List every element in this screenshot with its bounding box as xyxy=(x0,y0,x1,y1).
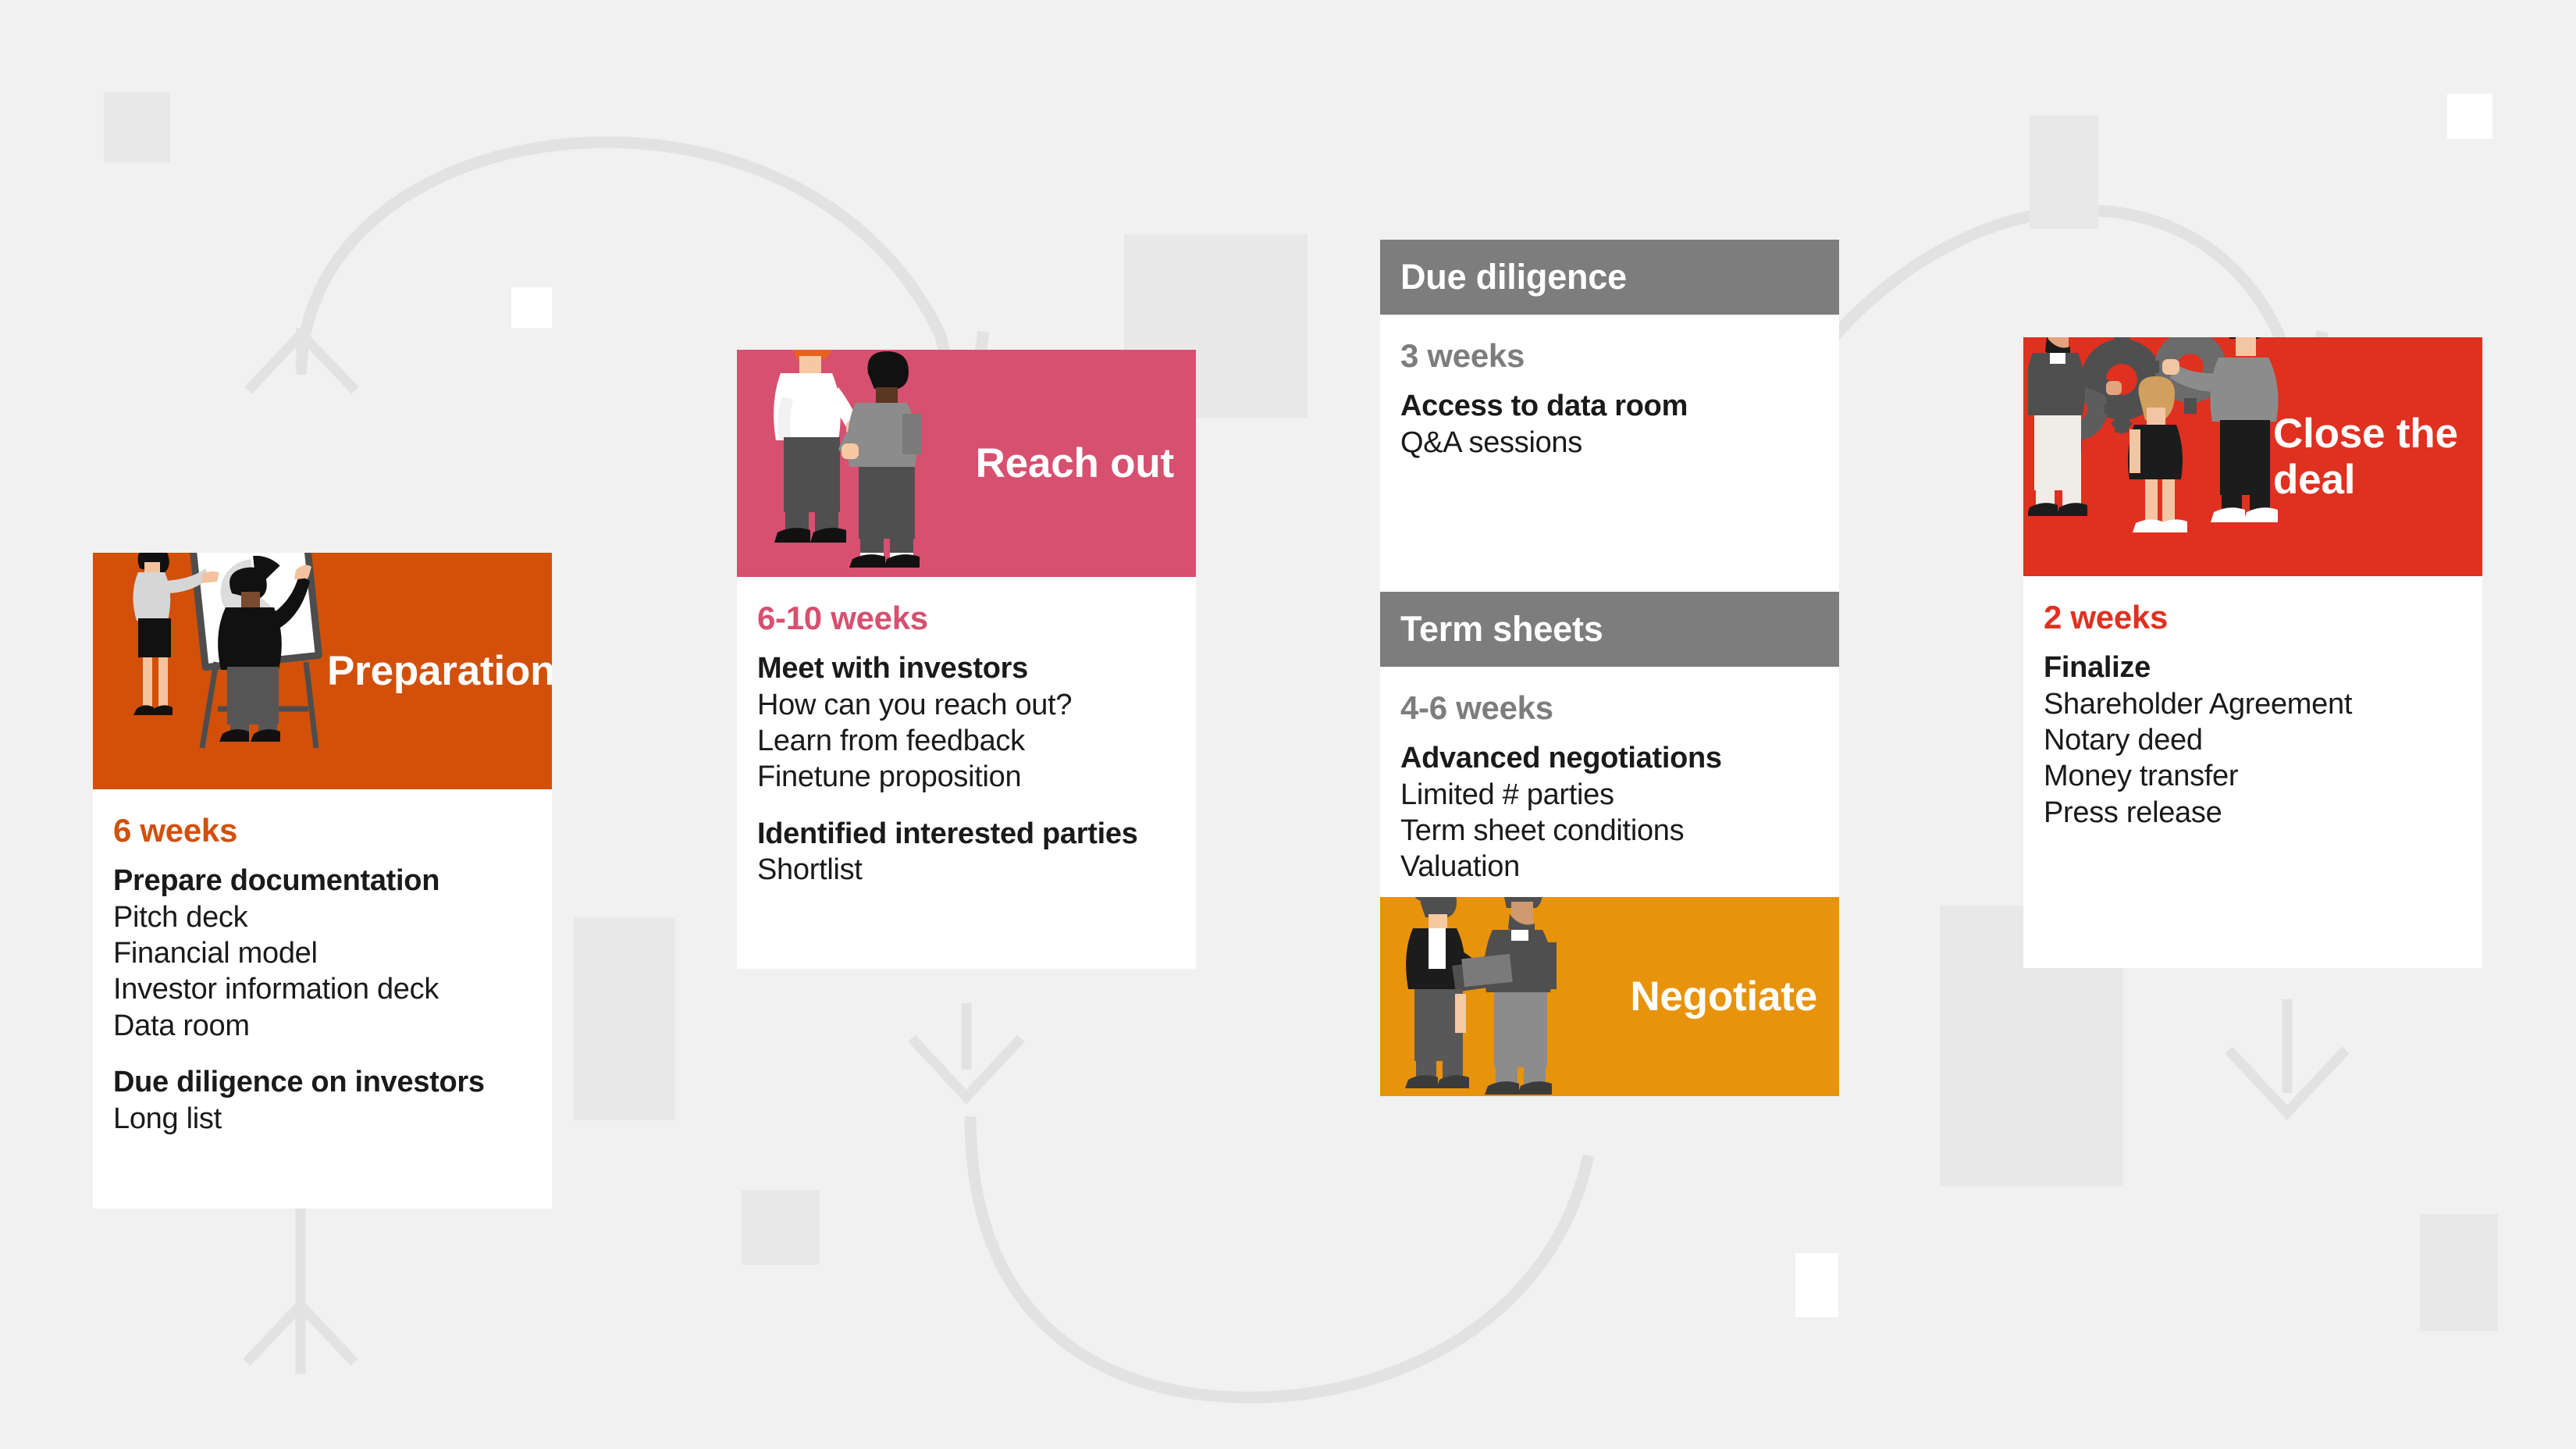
group-item: Financial model xyxy=(113,935,532,971)
arch-arrow-lower xyxy=(970,1116,1589,1397)
group-item: Shortlist xyxy=(757,852,1176,888)
reach-out-group-2: Identified interested parties Shortlist xyxy=(757,816,1176,888)
preparation-header[interactable]: Preparation xyxy=(93,553,552,789)
deco-square xyxy=(574,917,675,1120)
deco-square xyxy=(511,287,552,328)
close-deal-duration: 2 weeks xyxy=(2044,598,2462,637)
deco-square xyxy=(2030,116,2098,229)
close-deal-group-1: Finalize Shareholder Agreement Notary de… xyxy=(2044,650,2462,831)
deco-square xyxy=(104,92,170,162)
reach-out-group-1: Meet with investors How can you reach ou… xyxy=(757,650,1176,795)
group-title: Finalize xyxy=(2044,650,2462,685)
group-item: Money transfer xyxy=(2044,758,2462,794)
close-deal-header[interactable]: Close the deal xyxy=(2023,337,2482,576)
group-item: Valuation xyxy=(1400,849,1819,885)
group-title: Due diligence on investors xyxy=(113,1064,532,1100)
group-item: Finetune proposition xyxy=(757,759,1176,795)
group-title: Advanced negotiations xyxy=(1400,740,1819,776)
close-deal-body: 2 weeks Finalize Shareholder Agreement N… xyxy=(2023,576,2482,968)
term-sheets-body: 4-6 weeks Advanced negotiations Limited … xyxy=(1380,667,1839,897)
group-item: Data room xyxy=(113,1008,532,1044)
column-reach-out: Reach out 6-10 weeks Meet with investors… xyxy=(737,350,1196,969)
deco-square xyxy=(2420,1214,2498,1331)
deco-square xyxy=(1795,1253,1838,1317)
group-title: Meet with investors xyxy=(757,650,1176,686)
due-diligence-duration: 3 weeks xyxy=(1400,336,1819,376)
term-sheets-header[interactable]: Term sheets xyxy=(1380,592,1839,667)
due-diligence-group-1: Access to data room Q&A sessions xyxy=(1400,388,1819,461)
column-due-diligence-term-sheets: Due diligence 3 weeks Access to data roo… xyxy=(1380,240,1839,1096)
arrow-up-left xyxy=(247,1206,354,1374)
group-item: Notary deed xyxy=(2044,722,2462,758)
group-title: Access to data room xyxy=(1400,388,1819,424)
reach-out-header[interactable]: Reach out xyxy=(737,350,1196,577)
group-item: Long list xyxy=(113,1101,532,1137)
group-item: How can you reach out? xyxy=(757,687,1176,723)
group-item: Limited # parties xyxy=(1400,777,1819,813)
reach-out-duration: 6-10 weeks xyxy=(757,599,1176,638)
term-sheets-duration: 4-6 weeks xyxy=(1400,689,1819,728)
deco-square xyxy=(2447,94,2492,139)
group-item: Q&A sessions xyxy=(1400,425,1819,461)
infographic-canvas: Preparation 6 weeks Prepare documentatio… xyxy=(0,0,2576,1449)
deco-square xyxy=(742,1191,820,1265)
group-item: Learn from feedback xyxy=(757,723,1176,759)
arrow-down-column-four xyxy=(2229,999,2346,1113)
group-item: Investor information deck xyxy=(113,971,532,1007)
due-diligence-header-title: Due diligence xyxy=(1400,257,1627,297)
preparation-group-1: Prepare documentation Pitch deck Financi… xyxy=(113,863,532,1044)
whiteboard-presentation-illustration xyxy=(99,553,357,779)
negotiate-header-title: Negotiate xyxy=(1630,974,1839,1020)
reach-out-body: 6-10 weeks Meet with investors How can y… xyxy=(737,577,1196,969)
two-colleagues-tablets-illustration xyxy=(1394,897,1597,1096)
arrow-up-into-column-one xyxy=(248,328,355,390)
three-people-gears-illustration xyxy=(2028,337,2301,565)
group-title: Prepare documentation xyxy=(113,863,532,899)
term-sheets-header-title: Term sheets xyxy=(1400,609,1603,650)
group-item: Shareholder Agreement xyxy=(2044,686,2462,722)
preparation-body: 6 weeks Prepare documentation Pitch deck… xyxy=(93,789,552,1209)
preparation-header-title: Preparation xyxy=(327,648,552,694)
due-diligence-header[interactable]: Due diligence xyxy=(1380,240,1839,315)
column-close-the-deal: Close the deal 2 weeks Finalize Sharehol… xyxy=(2023,337,2482,968)
term-sheets-group-1: Advanced negotiations Limited # parties … xyxy=(1400,740,1819,885)
group-title: Identified interested parties xyxy=(757,816,1176,852)
handshake-two-people-illustration xyxy=(754,350,965,570)
negotiate-header[interactable]: Negotiate xyxy=(1380,897,1839,1096)
reach-out-header-title: Reach out xyxy=(976,440,1196,486)
group-item: Press release xyxy=(2044,795,2462,831)
close-deal-header-title: Close the deal xyxy=(2273,411,2482,504)
group-item: Term sheet conditions xyxy=(1400,813,1819,849)
arrow-down-column-two xyxy=(912,1003,1021,1097)
group-item: Pitch deck xyxy=(113,899,532,935)
column-preparation: Preparation 6 weeks Prepare documentatio… xyxy=(93,553,552,1209)
preparation-duration: 6 weeks xyxy=(113,811,532,850)
due-diligence-body: 3 weeks Access to data room Q&A sessions xyxy=(1380,315,1839,592)
preparation-group-2: Due diligence on investors Long list xyxy=(113,1064,532,1137)
